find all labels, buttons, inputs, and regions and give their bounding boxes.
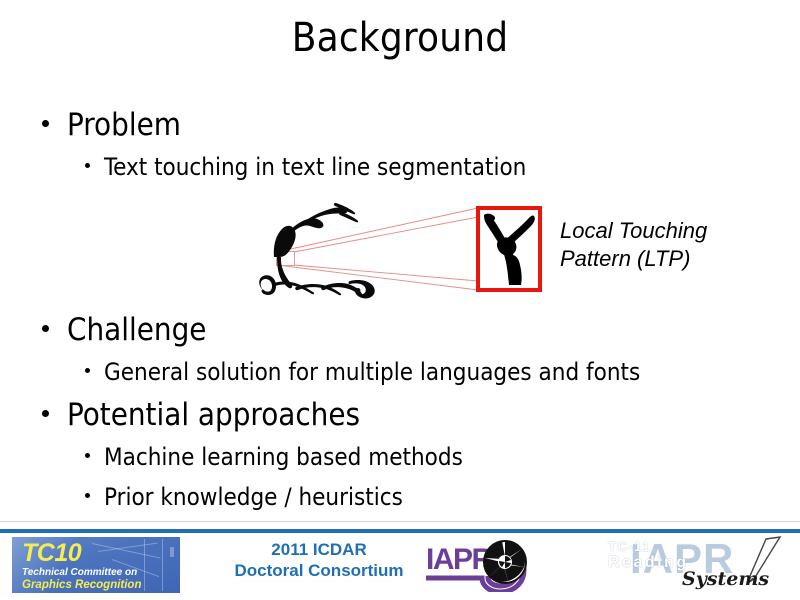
- bullet-dot-icon: [42, 120, 49, 127]
- ltp-zoom-box: [478, 208, 540, 290]
- bullet-dot-icon: [42, 325, 49, 332]
- presentation-slide: Background Problem Text touching in text…: [0, 0, 800, 600]
- icdar-line-2: Doctoral Consortium: [228, 560, 410, 581]
- bullet-dot-icon: [85, 163, 90, 168]
- tc11-reading-systems-logo: IAPR TC-11 Reading Systems: [604, 535, 790, 595]
- bullet-challenge-item-0-label: General solution for multiple languages …: [104, 358, 640, 386]
- ltp-caption: Local Touching Pattern (LTP): [560, 217, 760, 273]
- decorative-streak: [170, 547, 174, 557]
- slide-title: Background: [0, 14, 800, 62]
- tc11-logo-reading: Reading: [608, 554, 689, 572]
- tc10-logo-line-1: Technical Committee on: [22, 567, 137, 578]
- bullet-problem-item-0: Text touching in text line segmentation: [85, 153, 526, 181]
- bullet-challenge-item-0: General solution for multiple languages …: [85, 358, 640, 386]
- decorative-streak: [144, 539, 145, 591]
- tc10-logo-title: TC10: [22, 539, 81, 568]
- icdar-doctoral-consortium-text: 2011 ICDAR Doctoral Consortium: [228, 539, 410, 581]
- footer-divider-thin: [0, 521, 800, 522]
- iapr-emblem-icon: [424, 536, 546, 592]
- bullet-dot-icon: [42, 410, 49, 417]
- ltp-figure: Local Touching Pattern (LTP): [250, 195, 770, 310]
- tc11-logo-systems: Systems: [682, 568, 769, 590]
- tc11-logo-tag: TC-11: [608, 539, 651, 554]
- tc10-logo-line-2: Graphics Recognition: [22, 579, 142, 591]
- bullet-problem-item-0-label: Text touching in text line segmentation: [104, 153, 526, 181]
- iapr-logo: IAPR: [424, 536, 546, 592]
- icdar-line-1: 2011 ICDAR: [228, 539, 410, 560]
- bullet-potential-item-0: Machine learning based methods: [85, 443, 463, 471]
- ltp-caption-line-1: Local Touching: [560, 217, 760, 245]
- slide-footer: TC10 Technical Committee on Graphics Rec…: [0, 533, 800, 600]
- decorative-streak: [162, 539, 163, 591]
- handwriting-sample: [259, 203, 375, 299]
- bullet-problem-label: Problem: [67, 108, 181, 142]
- bullet-challenge-label: Challenge: [67, 313, 206, 347]
- bullet-potential-item-0-label: Machine learning based methods: [104, 443, 463, 471]
- ltp-caption-line-2: Pattern (LTP): [560, 245, 760, 273]
- bullet-problem: Problem: [42, 108, 181, 142]
- bullet-potential-item-1-label: Prior knowledge / heuristics: [104, 483, 403, 511]
- bullet-potential-approaches: Potential approaches: [42, 398, 360, 432]
- tc10-logo: TC10 Technical Committee on Graphics Rec…: [12, 537, 180, 593]
- bullet-dot-icon: [85, 368, 90, 373]
- bullet-dot-icon: [85, 453, 90, 458]
- bullet-dot-icon: [85, 493, 90, 498]
- bullet-challenge: Challenge: [42, 313, 206, 347]
- bullet-potential-approaches-label: Potential approaches: [67, 398, 360, 432]
- bullet-potential-item-1: Prior knowledge / heuristics: [85, 483, 403, 511]
